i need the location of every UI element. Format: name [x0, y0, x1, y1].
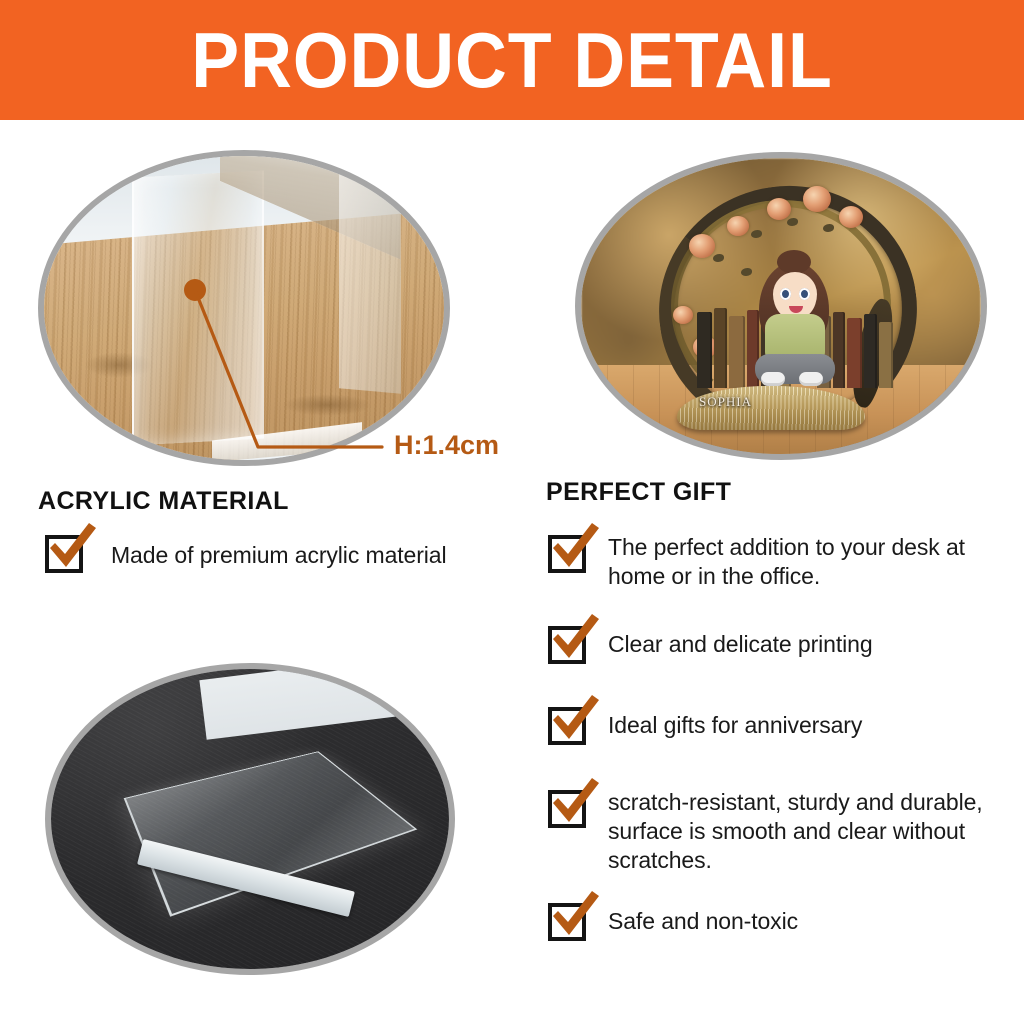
check-icon	[44, 519, 100, 575]
book	[864, 314, 877, 388]
feature-text: Clear and delicate printing	[608, 630, 1008, 659]
feature-text: Made of premium acrylic material	[111, 541, 551, 570]
book	[697, 312, 712, 388]
check-icon	[547, 887, 603, 943]
feature-text: scratch-resistant, sturdy and durable, s…	[608, 788, 1024, 875]
check-icon	[547, 610, 603, 666]
acrylic-slab-photo	[45, 663, 455, 975]
flower-icon	[767, 198, 791, 220]
flower-icon	[689, 234, 715, 258]
flower-icon	[727, 216, 749, 236]
eye	[799, 288, 810, 300]
hair-bun	[777, 250, 811, 274]
acrylic-slab-photo-content	[51, 669, 449, 969]
acrylic-edge-photo	[38, 150, 450, 466]
product-ornament-photo: SOPHIA	[575, 152, 987, 460]
book	[879, 322, 893, 388]
book	[847, 318, 862, 388]
acrylic-block	[132, 171, 264, 446]
girl-figurine	[749, 254, 841, 394]
check-icon	[547, 691, 603, 747]
feature-text: The perfect addition to your desk at hom…	[608, 533, 1008, 591]
acrylic-edge-photo-content	[44, 156, 444, 460]
acrylic-material-heading: ACRYLIC MATERIAL	[38, 487, 289, 516]
engraved-name: SOPHIA	[699, 394, 752, 410]
flower-icon	[803, 186, 831, 212]
product-photo-content: SOPHIA	[581, 158, 981, 454]
flower-icon	[673, 306, 693, 324]
shoe	[761, 372, 785, 386]
book	[714, 308, 727, 388]
flower-icon	[839, 206, 863, 228]
feature-text: Safe and non-toxic	[608, 907, 1008, 936]
check-icon	[547, 774, 603, 830]
page-title: PRODUCT DETAIL	[41, 14, 983, 106]
feature-text: Ideal gifts for anniversary	[608, 711, 1008, 740]
shoe	[799, 372, 823, 386]
acrylic-block-back-face	[339, 152, 401, 393]
product-detail-page: PRODUCT DETAIL	[0, 0, 1024, 1024]
perfect-gift-heading: PERFECT GIFT	[546, 478, 731, 507]
wood-knot	[282, 394, 372, 416]
book	[729, 316, 745, 388]
eye	[780, 288, 791, 300]
check-icon	[547, 519, 603, 575]
